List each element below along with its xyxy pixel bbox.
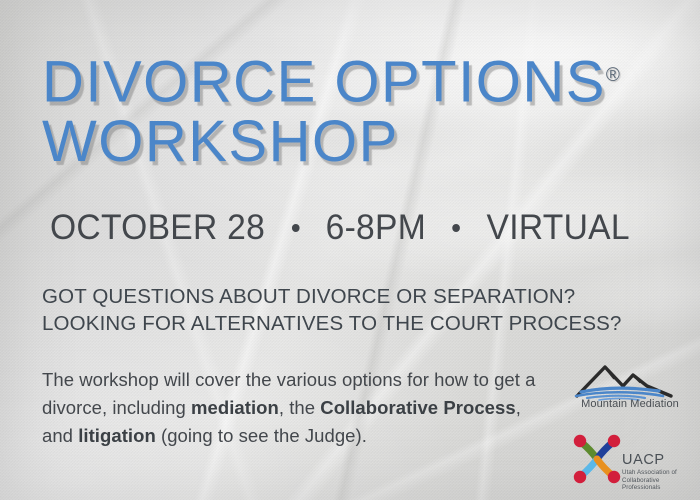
bullet-separator-icon [452,224,460,232]
mountain-logo-icon [567,356,693,402]
body-paragraph: The workshop will cover the various opti… [42,366,557,450]
uacp-subtitle-line-2: Collaborative Professionals [622,477,698,492]
event-time: 6-8PM [326,208,426,248]
body-segment-2: , the [279,397,320,418]
uacp-subtitle-line-1: Utah Association of [622,469,698,477]
body-bold-litigation: litigation [78,425,156,446]
poster-canvas: DIVORCE OPTIONS® WORKSHOP OCTOBER 28 6-8… [0,0,700,500]
registered-trademark-icon: ® [606,65,620,86]
headline-line-1: DIVORCE OPTIONS [42,49,606,114]
headline-line-2: WORKSHOP [42,112,682,172]
question-line-2: LOOKING FOR ALTERNATIVES TO THE COURT PR… [42,310,662,337]
event-details-strip: OCTOBER 28 6-8PM VIRTUAL [50,208,630,248]
question-line-1: GOT QUESTIONS ABOUT DIVORCE OR SEPARATIO… [42,283,662,310]
event-date: OCTOBER 28 [50,208,265,248]
event-location: VIRTUAL [487,208,630,248]
uacp-logo: UACP Utah Association of Collaborative P… [566,428,696,490]
body-bold-mediation: mediation [191,397,279,418]
uacp-pinwheel-icon [566,428,628,490]
uacp-wordmark: UACP Utah Association of Collaborative P… [622,453,698,492]
uacp-acronym: UACP [622,453,698,468]
body-bold-collaborative-process: Collaborative Process [320,397,515,418]
poster-headline: DIVORCE OPTIONS® WORKSHOP [42,46,682,172]
mountain-mediation-logo: Mountain Mediation [567,356,693,414]
questions-block: GOT QUESTIONS ABOUT DIVORCE OR SEPARATIO… [42,283,662,337]
bullet-separator-icon [292,224,300,232]
body-segment-4: (going to see the Judge). [156,425,367,446]
mountain-mediation-caption: Mountain Mediation [567,398,693,410]
